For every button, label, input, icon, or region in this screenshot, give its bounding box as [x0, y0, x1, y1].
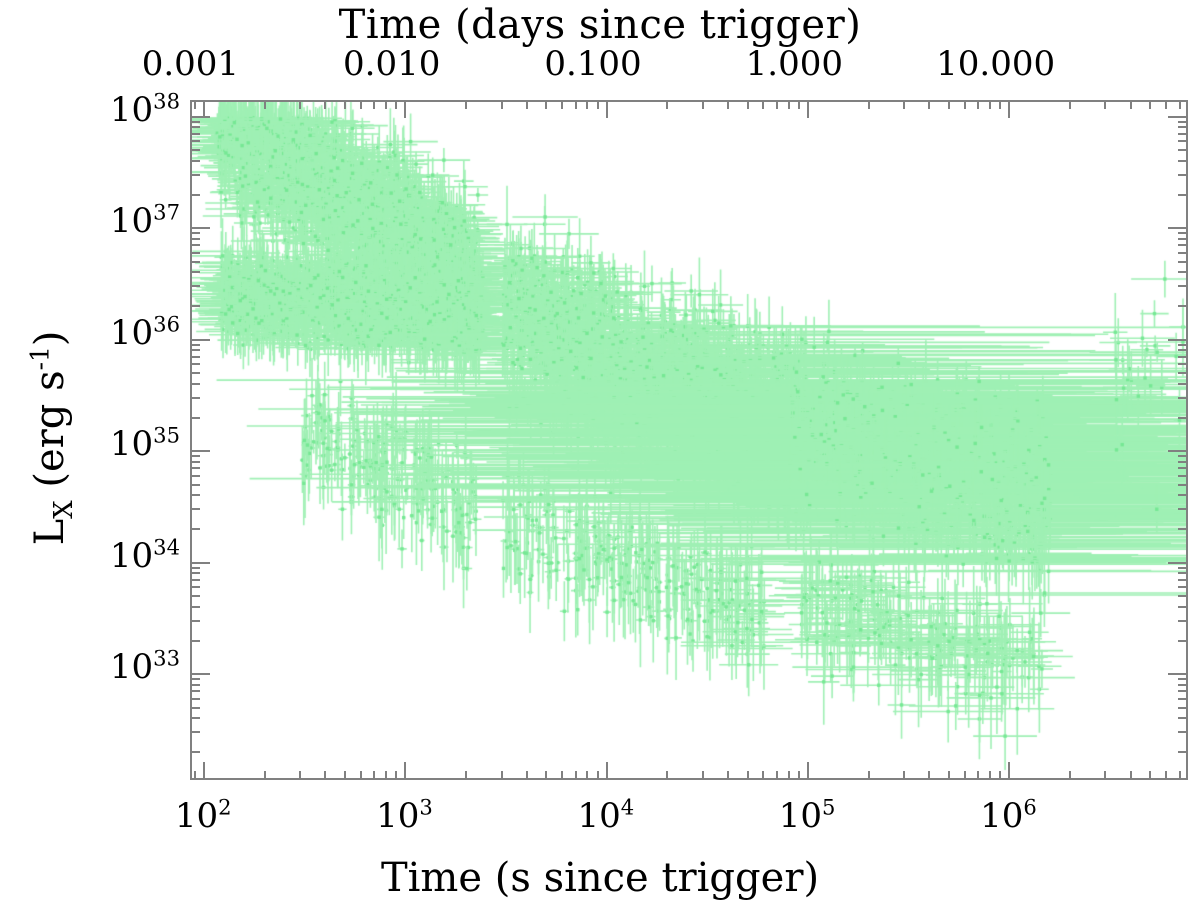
- axis-tick: [501, 100, 503, 109]
- axis-tick: [190, 417, 200, 419]
- axis-tick: [1178, 494, 1188, 496]
- axis-tick: [190, 383, 200, 385]
- tick-mantissa: 10: [110, 313, 153, 353]
- axis-tick: [1069, 100, 1071, 109]
- axis-tick: [1149, 100, 1151, 109]
- axis-tick: [1149, 771, 1151, 780]
- axis-tick: [1178, 678, 1188, 680]
- axis-tick: [190, 261, 200, 263]
- axis-tick: [545, 100, 547, 109]
- axis-tick: [526, 100, 528, 109]
- axis-tick: [190, 579, 200, 581]
- axis-tick: [190, 232, 200, 234]
- axis-tick: [727, 771, 729, 780]
- axis-tick: [194, 100, 196, 109]
- axis-tick: [324, 100, 326, 109]
- axis-tick: [762, 100, 764, 109]
- tick-mantissa: 10: [110, 424, 153, 464]
- tick-mantissa: 10: [779, 796, 822, 836]
- axis-tick: [948, 100, 950, 109]
- axis-tick: [190, 285, 200, 287]
- axis-tick: [190, 227, 210, 229]
- axis-tick: [1178, 363, 1188, 365]
- y-axis-title-main: L: [27, 519, 73, 546]
- axis-tick: [1178, 121, 1188, 123]
- axis-tick: [190, 356, 200, 358]
- axis-tick: [747, 771, 749, 780]
- axis-tick: [190, 363, 200, 365]
- axis-tick: [1178, 140, 1188, 142]
- axis-tick: [190, 751, 200, 753]
- axis-tick: [1168, 116, 1188, 118]
- axis-tick: [385, 771, 387, 780]
- axis-tick: [190, 160, 200, 162]
- axis-tick: [190, 252, 200, 254]
- axis-tick: [1168, 339, 1188, 341]
- axis-tick: [1178, 751, 1188, 753]
- axis-tick: [1178, 252, 1188, 254]
- axis-tick: [1178, 194, 1188, 196]
- bottom-tick-label: 102: [103, 796, 303, 836]
- axis-tick: [1178, 690, 1188, 692]
- axis-tick: [190, 690, 200, 692]
- axis-tick: [1165, 100, 1167, 109]
- plot-area: [190, 100, 1188, 780]
- axis-tick: [597, 100, 599, 109]
- axis-tick: [1178, 467, 1188, 469]
- tick-mantissa: 10: [110, 647, 153, 687]
- axis-tick: [575, 771, 577, 780]
- axis-tick: [190, 673, 210, 675]
- axis-tick: [1178, 372, 1188, 374]
- axis-tick: [964, 100, 966, 109]
- axis-tick: [190, 305, 200, 307]
- axis-tick: [1178, 586, 1188, 588]
- axis-tick: [1178, 244, 1188, 246]
- axis-tick: [190, 238, 200, 240]
- axis-tick: [190, 140, 200, 142]
- axis-tick: [776, 100, 778, 109]
- axis-tick: [190, 684, 200, 686]
- axis-tick: [190, 562, 210, 564]
- axis-tick: [798, 100, 800, 109]
- axis-tick: [1178, 349, 1188, 351]
- axis-tick: [465, 100, 467, 109]
- top-tick-label: 0.100: [483, 44, 703, 84]
- axis-tick: [373, 100, 375, 109]
- axis-tick: [404, 100, 406, 118]
- bottom-tick-label: 105: [707, 796, 907, 836]
- axis-tick: [1178, 232, 1188, 234]
- axis-tick: [1178, 475, 1188, 477]
- y-axis-title-close: ): [27, 331, 73, 347]
- axis-tick: [762, 771, 764, 780]
- axis-tick: [807, 762, 809, 780]
- axis-tick: [666, 771, 668, 780]
- axis-tick: [666, 100, 668, 109]
- axis-tick: [190, 586, 200, 588]
- axis-tick: [1178, 149, 1188, 151]
- figure-root: Time (days since trigger) 0.0010.0100.10…: [0, 0, 1200, 910]
- tick-mantissa: 10: [376, 796, 419, 836]
- axis-tick: [1168, 562, 1188, 564]
- y-axis-title-sub: X: [49, 500, 79, 519]
- axis-tick: [264, 771, 266, 780]
- tick-exponent: 37: [153, 200, 180, 225]
- axis-tick: [1178, 684, 1188, 686]
- axis-tick: [190, 339, 210, 341]
- top-tick-label: 10.000: [886, 44, 1106, 84]
- axis-tick: [1178, 567, 1188, 569]
- axis-tick: [1104, 771, 1106, 780]
- axis-tick: [404, 762, 406, 780]
- axis-tick: [190, 467, 200, 469]
- tick-exponent: 3: [419, 795, 432, 820]
- y-axis-title: LX (erg s-1): [27, 158, 73, 718]
- tick-exponent: 35: [153, 423, 180, 448]
- axis-tick: [1165, 771, 1167, 780]
- axis-tick: [190, 372, 200, 374]
- axis-tick: [1178, 528, 1188, 530]
- axis-tick: [1178, 640, 1188, 642]
- axis-tick: [190, 397, 200, 399]
- axis-tick: [1130, 100, 1132, 109]
- axis-tick: [606, 762, 608, 780]
- axis-tick: [190, 731, 200, 733]
- axis-tick: [702, 100, 704, 109]
- axis-tick: [586, 771, 588, 780]
- tick-exponent: 33: [153, 646, 180, 671]
- axis-tick: [1069, 771, 1071, 780]
- tick-exponent: 2: [218, 795, 231, 820]
- axis-tick: [1178, 344, 1188, 346]
- axis-tick: [190, 349, 200, 351]
- axis-tick: [299, 100, 301, 109]
- axis-tick: [1178, 305, 1188, 307]
- axis-tick: [1178, 126, 1188, 128]
- axis-tick: [190, 528, 200, 530]
- axis-tick: [1178, 397, 1188, 399]
- axis-tick: [190, 698, 200, 700]
- axis-tick: [788, 771, 790, 780]
- axis-tick: [1178, 484, 1188, 486]
- axis-tick: [1168, 450, 1188, 452]
- tick-exponent: 34: [153, 534, 180, 559]
- axis-tick: [977, 100, 979, 109]
- axis-tick: [190, 121, 200, 123]
- axis-tick: [385, 100, 387, 109]
- bottom-axis-title: Time (s since trigger): [0, 855, 1200, 901]
- axis-tick: [190, 606, 200, 608]
- tick-exponent: 5: [822, 795, 835, 820]
- axis-tick: [1179, 771, 1181, 780]
- axis-tick: [928, 771, 930, 780]
- axis-tick: [868, 771, 870, 780]
- axis-tick: [190, 484, 200, 486]
- axis-tick: [999, 100, 1001, 109]
- axis-tick: [1178, 160, 1188, 162]
- scatter-canvas: [192, 102, 1188, 780]
- axis-tick: [190, 244, 200, 246]
- axis-tick: [964, 771, 966, 780]
- axis-tick: [190, 126, 200, 128]
- axis-tick: [190, 707, 200, 709]
- axis-tick: [903, 100, 905, 109]
- axis-tick: [776, 771, 778, 780]
- axis-tick: [798, 771, 800, 780]
- axis-tick: [1178, 620, 1188, 622]
- axis-tick: [190, 678, 200, 680]
- axis-tick: [344, 100, 346, 109]
- axis-tick: [360, 100, 362, 109]
- axis-tick: [526, 771, 528, 780]
- axis-tick: [395, 100, 397, 109]
- axis-tick: [190, 116, 210, 118]
- axis-tick: [190, 455, 200, 457]
- axis-tick: [868, 100, 870, 109]
- axis-tick: [989, 100, 991, 109]
- tick-exponent: 6: [1023, 795, 1036, 820]
- axis-tick: [190, 149, 200, 151]
- tick-exponent: 38: [153, 88, 180, 113]
- axis-tick: [1178, 285, 1188, 287]
- tick-mantissa: 10: [110, 201, 153, 241]
- axis-tick: [190, 475, 200, 477]
- tick-exponent: 36: [153, 311, 180, 336]
- axis-tick: [190, 344, 200, 346]
- axis-tick: [501, 771, 503, 780]
- axis-tick: [264, 100, 266, 109]
- axis-tick: [1178, 606, 1188, 608]
- axis-tick: [575, 100, 577, 109]
- axis-tick: [928, 100, 930, 109]
- left-tick-label: 1038: [40, 90, 180, 130]
- axis-tick: [1178, 261, 1188, 263]
- axis-tick: [1179, 100, 1181, 109]
- axis-tick: [190, 461, 200, 463]
- axis-tick: [299, 771, 301, 780]
- axis-tick: [1130, 771, 1132, 780]
- axis-tick: [597, 771, 599, 780]
- axis-tick: [190, 567, 200, 569]
- axis-tick: [190, 194, 200, 196]
- axis-tick: [1178, 731, 1188, 733]
- bottom-tick-label: 106: [908, 796, 1108, 836]
- axis-tick: [373, 771, 375, 780]
- axis-tick: [190, 494, 200, 496]
- axis-tick: [1178, 717, 1188, 719]
- top-axis-title: Time (days since trigger): [0, 2, 1200, 48]
- tick-mantissa: 10: [577, 796, 620, 836]
- axis-tick: [190, 450, 210, 452]
- axis-tick: [1178, 174, 1188, 176]
- axis-tick: [190, 174, 200, 176]
- axis-tick: [807, 100, 809, 118]
- bottom-tick-label: 103: [304, 796, 504, 836]
- axis-tick: [190, 595, 200, 597]
- axis-tick: [1178, 417, 1188, 419]
- y-axis-title-rest: (erg s: [27, 370, 73, 500]
- axis-tick: [1168, 673, 1188, 675]
- y-axis-title-sup: -1: [26, 346, 55, 370]
- axis-tick: [747, 100, 749, 109]
- axis-tick: [190, 133, 200, 135]
- axis-tick: [1178, 383, 1188, 385]
- axis-tick: [190, 572, 200, 574]
- axis-tick: [727, 100, 729, 109]
- axis-tick: [395, 771, 397, 780]
- axis-tick: [903, 771, 905, 780]
- axis-tick: [190, 717, 200, 719]
- axis-tick: [465, 771, 467, 780]
- axis-tick: [1008, 762, 1010, 780]
- top-tick-label: 1.000: [684, 44, 904, 84]
- axis-tick: [999, 771, 1001, 780]
- axis-tick: [1178, 572, 1188, 574]
- axis-tick: [606, 100, 608, 118]
- axis-tick: [1178, 698, 1188, 700]
- axis-tick: [1178, 707, 1188, 709]
- axis-tick: [977, 771, 979, 780]
- axis-tick: [190, 508, 200, 510]
- axis-tick: [702, 771, 704, 780]
- tick-mantissa: 10: [980, 796, 1023, 836]
- axis-tick: [586, 100, 588, 109]
- axis-tick: [190, 271, 200, 273]
- axis-tick: [1168, 227, 1188, 229]
- top-tick-label: 0.001: [80, 44, 300, 84]
- axis-tick: [1178, 133, 1188, 135]
- tick-mantissa: 10: [110, 536, 153, 576]
- tick-mantissa: 10: [175, 796, 218, 836]
- axis-tick: [948, 771, 950, 780]
- axis-tick: [788, 100, 790, 109]
- bottom-tick-label: 104: [506, 796, 706, 836]
- tick-exponent: 4: [621, 795, 634, 820]
- axis-tick: [190, 620, 200, 622]
- tick-mantissa: 10: [110, 90, 153, 130]
- axis-tick: [1178, 579, 1188, 581]
- axis-tick: [203, 762, 205, 780]
- axis-tick: [1178, 356, 1188, 358]
- axis-tick: [190, 640, 200, 642]
- axis-tick: [1178, 455, 1188, 457]
- axis-tick: [1008, 100, 1010, 118]
- axis-tick: [360, 771, 362, 780]
- axis-tick: [194, 771, 196, 780]
- axis-tick: [989, 771, 991, 780]
- axis-tick: [1104, 100, 1106, 109]
- axis-tick: [1178, 461, 1188, 463]
- axis-tick: [1178, 238, 1188, 240]
- axis-tick: [561, 771, 563, 780]
- axis-tick: [545, 771, 547, 780]
- axis-tick: [561, 100, 563, 109]
- axis-tick: [324, 771, 326, 780]
- axis-tick: [1178, 595, 1188, 597]
- top-tick-label: 0.010: [282, 44, 502, 84]
- axis-tick: [1178, 508, 1188, 510]
- axis-tick: [1178, 271, 1188, 273]
- axis-tick: [344, 771, 346, 780]
